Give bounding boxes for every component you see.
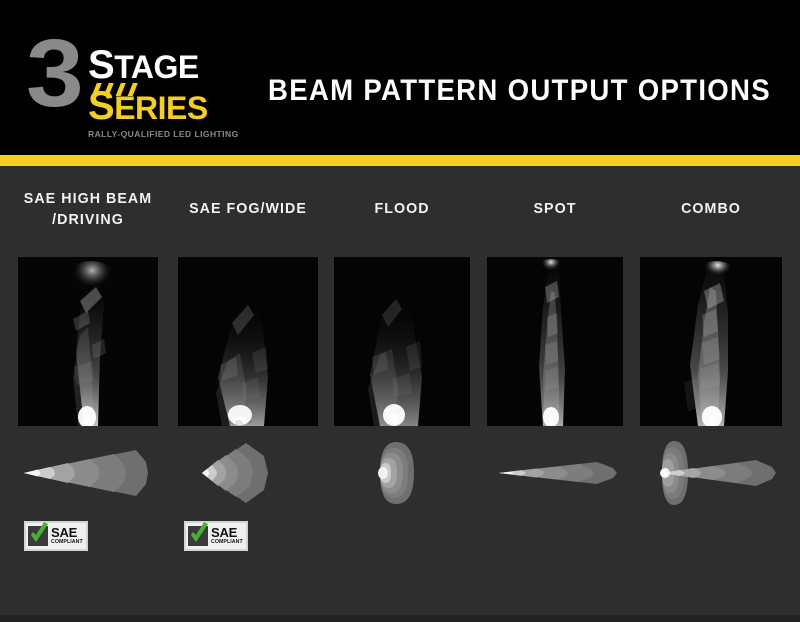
column-label-line1: SAE FOG/WIDE bbox=[189, 200, 307, 217]
column-flood: FLOOD bbox=[334, 166, 470, 615]
beam-photo-sae-high-beam-driving bbox=[18, 257, 158, 426]
badge-title: SAE bbox=[211, 526, 243, 539]
columns-container: SAE HIGH BEAM /DRIVING bbox=[0, 166, 800, 615]
beam-pattern-infographic: 3 STAGE SERIES RALLY-QUALIFIED LED LIGHT… bbox=[0, 0, 800, 622]
sae-compliant-badge: SAE COMPLIANT bbox=[24, 521, 88, 551]
column-label: SAE FOG/WIDE bbox=[182, 198, 315, 219]
column-label-line2: /DRIVING bbox=[52, 211, 124, 228]
column-label-line1: SAE HIGH BEAM bbox=[24, 190, 152, 207]
beam-photo-flood bbox=[334, 257, 470, 426]
beam-photo-sae-fog-wide bbox=[178, 257, 318, 426]
column-label: FLOOD bbox=[337, 198, 466, 219]
beam-diagram-sae-fog-wide bbox=[178, 438, 318, 508]
column-spot: SPOT bbox=[487, 166, 623, 615]
logo-word-stage: STAGE bbox=[88, 46, 238, 84]
column-label-line1: COMBO bbox=[681, 200, 741, 217]
green-check-icon bbox=[28, 526, 48, 546]
column-label-line1: FLOOD bbox=[374, 200, 429, 217]
bottom-edge bbox=[0, 615, 800, 622]
beam-diagram-flood bbox=[334, 438, 470, 508]
green-check-icon bbox=[188, 526, 208, 546]
logo-tagline: RALLY-QUALIFIED LED LIGHTING bbox=[88, 129, 238, 139]
page-title: BEAM PATTERN OUTPUT OPTIONS bbox=[268, 74, 771, 108]
column-combo: COMBO bbox=[640, 166, 782, 615]
beam-diagram-sae-high-beam-driving bbox=[18, 438, 158, 508]
badge-subtitle: COMPLIANT bbox=[211, 540, 243, 545]
column-sae-fog-wide: SAE FOG/WIDE bbox=[178, 166, 318, 615]
beam-diagram-combo bbox=[640, 438, 782, 508]
column-label-line1: SPOT bbox=[534, 200, 577, 217]
brand-logo: 3 STAGE SERIES RALLY-QUALIFIED LED LIGHT… bbox=[26, 30, 236, 130]
beam-photo-spot bbox=[487, 257, 623, 426]
beam-photo-combo bbox=[640, 257, 782, 426]
column-label: COMBO bbox=[644, 198, 779, 219]
header-bar: 3 STAGE SERIES RALLY-QUALIFIED LED LIGHT… bbox=[0, 0, 800, 155]
sae-compliant-badge: SAE COMPLIANT bbox=[184, 521, 248, 551]
accent-divider bbox=[0, 155, 800, 166]
logo-numeral: 3 bbox=[26, 26, 77, 122]
badge-subtitle: COMPLIANT bbox=[51, 540, 83, 545]
badge-title: SAE bbox=[51, 526, 83, 539]
logo-speed-slashes-icon bbox=[92, 83, 146, 96]
beam-diagram-spot bbox=[487, 438, 623, 508]
column-label: SAE HIGH BEAM /DRIVING bbox=[22, 188, 155, 230]
column-sae-high-beam-driving: SAE HIGH BEAM /DRIVING bbox=[18, 166, 158, 615]
column-label: SPOT bbox=[490, 198, 619, 219]
